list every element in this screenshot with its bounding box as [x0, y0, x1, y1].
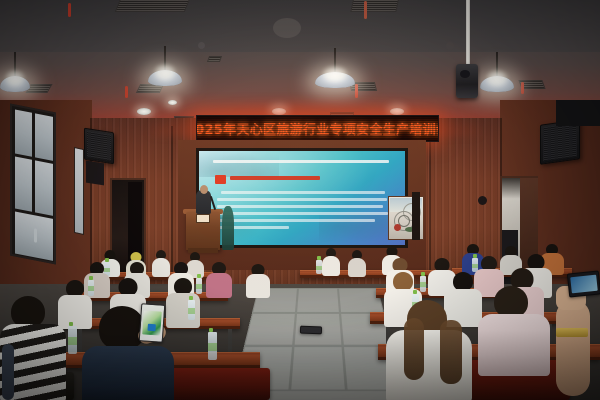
bag-strap [2, 344, 14, 400]
person-hair [440, 320, 462, 384]
person-body [246, 274, 270, 298]
slide-heading [230, 175, 322, 184]
presenter-head [200, 185, 208, 194]
ceiling-patch [273, 18, 301, 38]
lamp-glow [154, 64, 176, 80]
wall-speaker-icon [84, 128, 114, 165]
sprinkler-icon [125, 86, 128, 98]
window-pane [35, 113, 53, 160]
lamp-glow [486, 70, 508, 86]
sprinkler-icon [68, 3, 71, 17]
person-body [478, 314, 550, 376]
wall-speaker-icon [540, 119, 580, 165]
panel-flower [394, 224, 401, 231]
slide-title [213, 160, 393, 168]
led-banner-text: 2025年天心区旅游行业专项安全生产培训会 [196, 119, 439, 138]
phone-screen [571, 274, 598, 293]
smartphone-icon[interactable] [139, 303, 166, 343]
lamp-glow [5, 70, 24, 86]
window-pane [35, 160, 53, 215]
potted-plant-icon [222, 206, 234, 250]
phone-screen-badge [147, 323, 155, 331]
water-bottle-icon [188, 300, 195, 320]
water-bottle-icon [316, 260, 322, 274]
recessed-downlight-icon [137, 108, 151, 115]
projector-mount-pole [466, 0, 470, 68]
wristwatch-icon [556, 328, 588, 337]
sprinkler-icon [521, 82, 524, 94]
chair [160, 368, 270, 400]
person-body [206, 273, 232, 298]
hvac-vent-icon [207, 56, 222, 62]
audience-member [246, 264, 270, 296]
ceiling-fitting-icon [198, 42, 205, 49]
projector-lens-icon [460, 70, 470, 78]
hvac-vent-icon [350, 0, 399, 12]
speaker-grill [87, 131, 111, 161]
slide-body-text [217, 191, 389, 233]
wall-fixture-icon [478, 196, 487, 205]
audience-member [206, 262, 232, 296]
person-body [322, 256, 340, 276]
person-hair [404, 318, 424, 380]
speaker-grill [543, 123, 577, 162]
water-bottle-icon [68, 326, 77, 354]
window-handle[interactable] [34, 228, 37, 243]
audience-member [322, 248, 340, 275]
audience-member-foreground [478, 286, 550, 372]
person-body [82, 346, 174, 400]
slide-number-badge [215, 175, 226, 184]
panel-shadow [412, 192, 420, 240]
conference-room-photo: 2025年天心区旅游行业专项安全生产培训会 [0, 0, 600, 400]
led-banner: 2025年天心区旅游行业专项安全生产培训会 [196, 115, 439, 142]
window-pane [15, 157, 32, 212]
phone-screen [142, 311, 161, 335]
person-body [348, 258, 366, 277]
ceiling-projector-icon [456, 64, 478, 98]
frosted-glass-window [10, 104, 56, 265]
audience-member [348, 250, 366, 276]
podium-monitor [196, 214, 210, 223]
window-pane [15, 110, 32, 157]
hvac-vent-icon [115, 0, 191, 12]
tablet-on-desk-icon[interactable] [300, 326, 322, 335]
ceiling-fitting-icon [446, 42, 454, 50]
speaker-bracket [86, 161, 104, 186]
sprinkler-icon [364, 1, 367, 19]
narrow-window-pane [74, 147, 84, 235]
person-arm-foreground [556, 300, 590, 396]
lamp-glow [322, 66, 348, 82]
sprinkler-icon [355, 84, 358, 98]
smartphone-icon[interactable] [567, 270, 600, 297]
wall-mounted-unit [556, 100, 600, 126]
water-bottle-icon [208, 332, 217, 360]
